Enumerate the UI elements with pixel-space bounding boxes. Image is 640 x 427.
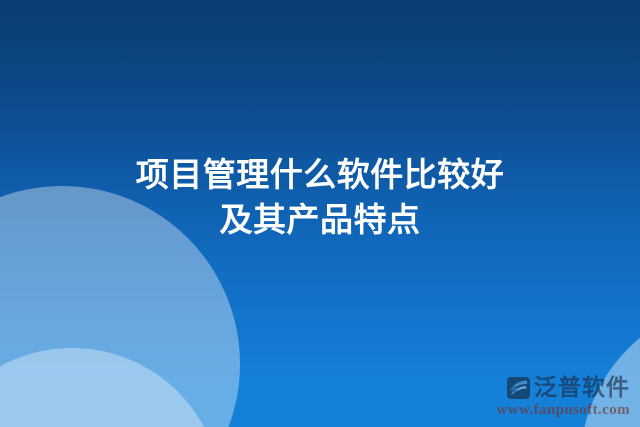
title-line-1: 项目管理什么软件比较好 — [0, 152, 640, 197]
page-title: 项目管理什么软件比较好 及其产品特点 — [0, 152, 640, 242]
banner-canvas: 项目管理什么软件比较好 及其产品特点 泛普软件 www.fanpusoft.co… — [0, 0, 640, 427]
title-line-2: 及其产品特点 — [0, 197, 640, 242]
